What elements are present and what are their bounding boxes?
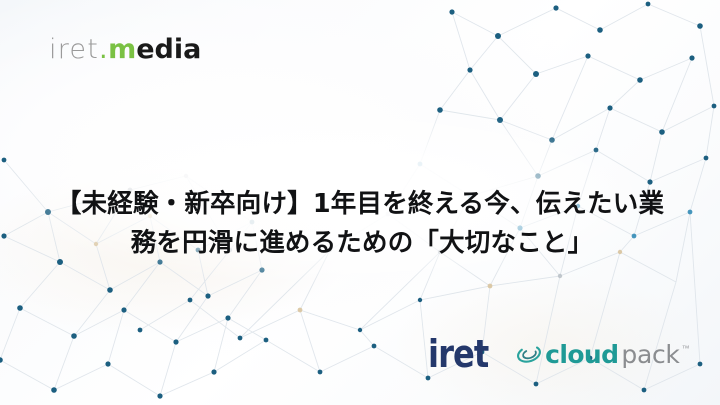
- iret-company-logo: iret: [428, 335, 488, 373]
- footer-logo-group: iret cloudpack™: [428, 330, 696, 378]
- cloudpack-logo-text-cloud: cloud: [545, 342, 618, 367]
- cloudpack-logo-text-pack: pack: [621, 342, 679, 367]
- article-ogp-card: iret.media 【未経験・新卒向け】1年目を終える今、伝えたい業 務を円滑…: [0, 0, 720, 405]
- brand-logo-text-iret: iret: [49, 34, 99, 65]
- cloudpack-trademark-symbol: ™: [682, 344, 690, 353]
- article-title: 【未経験・新卒向け】1年目を終える今、伝えたい業 務を円滑に進めるための「大切な…: [0, 185, 720, 263]
- brand-logo-dot: .: [99, 34, 108, 65]
- article-title-line-2: 務を円滑に進めるための「大切なこと」: [0, 224, 720, 263]
- brand-logo-text-m: m: [108, 34, 136, 65]
- article-title-line-1: 【未経験・新卒向け】1年目を終える今、伝えたい業: [0, 185, 720, 224]
- brand-logo-iret-media: iret.media: [49, 36, 201, 63]
- brand-logo-text-edia: edia: [136, 34, 201, 65]
- swirl-ellipse-icon: [516, 343, 542, 365]
- cloudpack-logo: cloudpack™: [516, 342, 689, 367]
